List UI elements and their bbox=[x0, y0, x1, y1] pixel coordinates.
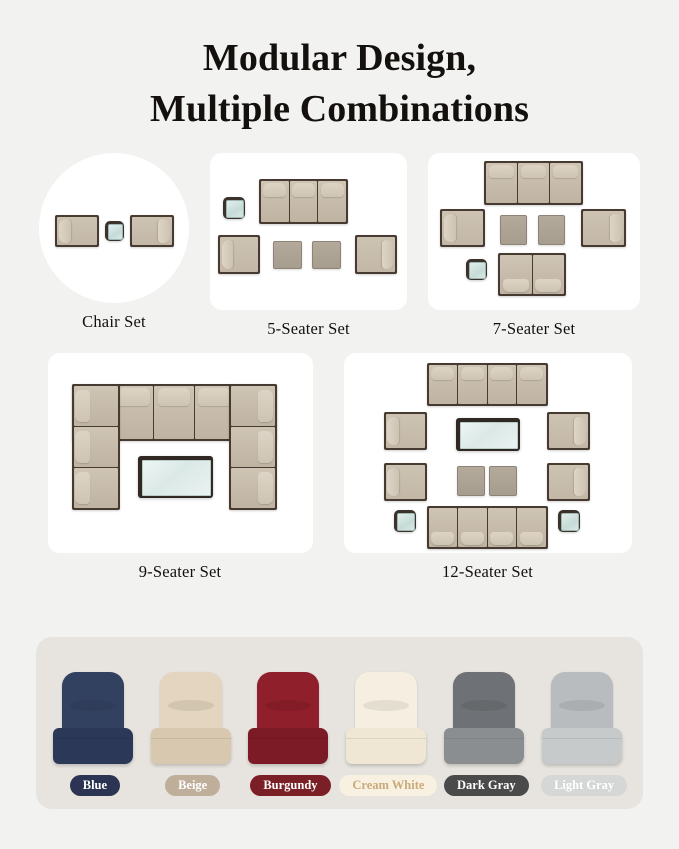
set-card-5seater[interactable] bbox=[210, 153, 407, 310]
set-label: 9-Seater Set bbox=[139, 562, 222, 582]
layout-diagram-9seater bbox=[48, 353, 313, 553]
set-item-7seater[interactable]: 7-Seater Set bbox=[428, 153, 640, 339]
armchair bbox=[218, 235, 260, 274]
armchair bbox=[547, 463, 590, 501]
cushion-seat bbox=[53, 728, 133, 764]
color-label-light-gray[interactable]: Light Gray bbox=[541, 775, 627, 796]
cushion-seat bbox=[248, 728, 328, 764]
cushion-seat bbox=[444, 728, 524, 764]
sofa-3seat bbox=[484, 161, 583, 205]
layout-diagram-5seater bbox=[210, 153, 407, 310]
armchair bbox=[55, 215, 99, 247]
ottoman bbox=[489, 466, 517, 496]
sectional-right-run bbox=[229, 384, 277, 510]
cushion-back bbox=[453, 672, 515, 736]
set-card-chair[interactable] bbox=[39, 153, 189, 303]
side-table bbox=[394, 510, 416, 532]
ottoman bbox=[457, 466, 485, 496]
cushion-preview bbox=[151, 672, 235, 768]
color-label-dark-gray[interactable]: Dark Gray bbox=[444, 775, 529, 796]
side-table bbox=[105, 221, 124, 241]
cushion-preview bbox=[248, 672, 332, 768]
armchair bbox=[547, 412, 590, 450]
armchair bbox=[384, 463, 427, 501]
color-label-beige[interactable]: Beige bbox=[165, 775, 220, 796]
armchair bbox=[355, 235, 397, 274]
cushion-preview bbox=[444, 672, 528, 768]
ottoman bbox=[312, 241, 341, 269]
set-card-12seater[interactable] bbox=[344, 353, 632, 553]
color-swatch-row: Blue Beige Burgundy Cream White bbox=[36, 637, 643, 809]
coffee-table bbox=[138, 456, 213, 498]
layout-diagram-chair bbox=[39, 153, 189, 303]
set-item-9seater[interactable]: 9-Seater Set bbox=[48, 353, 313, 582]
coffee-table bbox=[456, 418, 520, 451]
color-label-blue[interactable]: Blue bbox=[70, 775, 120, 796]
layout-diagram-7seater bbox=[428, 153, 640, 310]
color-label-cream-white[interactable]: Cream White bbox=[339, 775, 437, 796]
set-item-chair[interactable]: Chair Set bbox=[39, 153, 189, 332]
cushion-back bbox=[355, 672, 417, 736]
cushion-preview bbox=[346, 672, 430, 768]
color-swatch-burgundy[interactable]: Burgundy bbox=[242, 672, 340, 796]
color-swatch-beige[interactable]: Beige bbox=[144, 672, 242, 796]
color-swatch-cream-white[interactable]: Cream White bbox=[339, 672, 437, 796]
sofa-3seat bbox=[259, 179, 348, 224]
title-line-1: Modular Design, bbox=[0, 33, 679, 84]
cushion-seat bbox=[151, 728, 231, 764]
cushion-seat bbox=[542, 728, 622, 764]
cushion-back bbox=[160, 672, 222, 736]
set-label: 7-Seater Set bbox=[493, 319, 576, 339]
armchair bbox=[130, 215, 174, 247]
set-row-bottom: 9-Seater Set bbox=[0, 353, 679, 582]
armchair bbox=[440, 209, 485, 247]
set-card-9seater[interactable] bbox=[48, 353, 313, 553]
side-table bbox=[466, 259, 487, 280]
sofa-4seat bbox=[427, 363, 548, 406]
cushion-preview bbox=[542, 672, 626, 768]
set-item-5seater[interactable]: 5-Seater Set bbox=[210, 153, 407, 339]
sofa-2seat bbox=[498, 253, 566, 296]
cushion-seat bbox=[346, 728, 426, 764]
set-card-7seater[interactable] bbox=[428, 153, 640, 310]
layout-diagram-12seater bbox=[344, 353, 632, 553]
cushion-preview bbox=[53, 672, 137, 768]
set-label: 12-Seater Set bbox=[442, 562, 533, 582]
side-table bbox=[223, 197, 245, 219]
armchair bbox=[581, 209, 626, 247]
sectional-left-run bbox=[72, 384, 120, 510]
armchair bbox=[384, 412, 427, 450]
color-swatch-dark-gray[interactable]: Dark Gray bbox=[437, 672, 535, 796]
cushion-back bbox=[62, 672, 124, 736]
title-line-2: Multiple Combinations bbox=[0, 84, 679, 135]
page-title: Modular Design, Multiple Combinations bbox=[0, 0, 679, 135]
cushion-back bbox=[257, 672, 319, 736]
color-label-burgundy[interactable]: Burgundy bbox=[250, 775, 330, 796]
ottoman bbox=[500, 215, 527, 245]
sofa-4seat bbox=[427, 506, 548, 549]
color-swatch-blue[interactable]: Blue bbox=[46, 672, 144, 796]
ottoman bbox=[273, 241, 302, 269]
cushion-back bbox=[551, 672, 613, 736]
set-label: 5-Seater Set bbox=[267, 319, 350, 339]
color-swatch-light-gray[interactable]: Light Gray bbox=[535, 672, 633, 796]
side-table bbox=[558, 510, 580, 532]
set-label: Chair Set bbox=[82, 312, 146, 332]
color-options-panel: Blue Beige Burgundy Cream White bbox=[36, 637, 643, 809]
set-item-12seater[interactable]: 12-Seater Set bbox=[344, 353, 632, 582]
set-row-top: Chair Set 5-Seater Set bbox=[0, 153, 679, 339]
ottoman bbox=[538, 215, 565, 245]
